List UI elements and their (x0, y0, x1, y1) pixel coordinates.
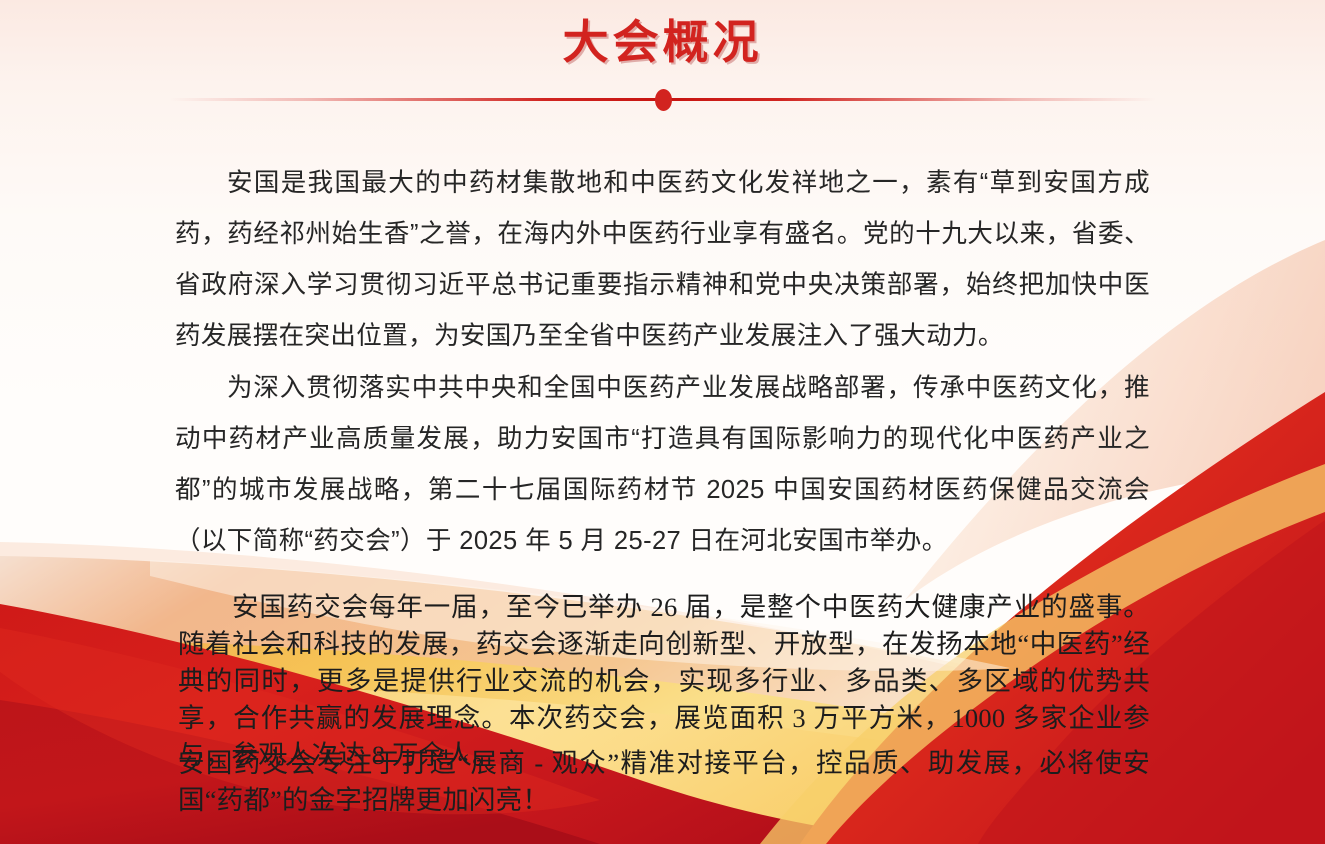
slide-page: 大会概况 安国是我国最大的中药材集散地和中医药文化发祥地之一，素有“草到安国方成… (0, 0, 1325, 844)
page-title: 大会概况 (0, 0, 1325, 72)
paragraph-overview-city: 安国是我国最大的中药材集散地和中医药文化发祥地之一，素有“草到安国方成药，药经祁… (175, 158, 1150, 362)
paragraph-closing-statement: 安国药交会专注于打造“展商 - 观众”精准对接平台，控品质、助发展，必将使安国“… (178, 745, 1150, 819)
title-divider-dot-icon (655, 89, 672, 111)
header: 大会概况 (0, 0, 1325, 72)
paragraph-event-announcement: 为深入贯彻落实中共中央和全国中医药产业发展战略部署，传承中医药文化，推动中药材产… (175, 363, 1150, 567)
